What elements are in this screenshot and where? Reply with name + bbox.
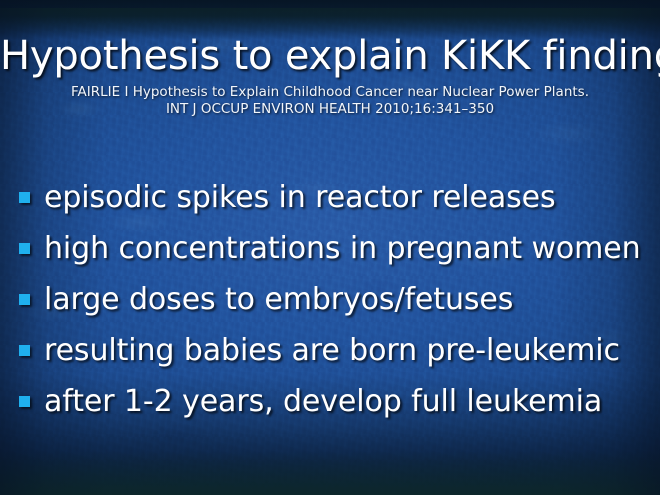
square-bullet-icon bbox=[19, 243, 30, 254]
square-bullet-icon bbox=[19, 396, 30, 407]
list-item: after 1-2 years, develop full leukemia bbox=[0, 376, 660, 427]
bullet-text: large doses to embryos/fetuses bbox=[44, 285, 513, 315]
bullet-text: episodic spikes in reactor releases bbox=[44, 183, 556, 213]
list-item: resulting babies are born pre-leukemic bbox=[0, 325, 660, 376]
presentation-slide: Hypothesis to explain KiKK findings FAIR… bbox=[0, 0, 660, 495]
slide-content: Hypothesis to explain KiKK findings FAIR… bbox=[0, 0, 660, 495]
bullet-text: resulting babies are born pre-leukemic bbox=[44, 336, 620, 366]
square-bullet-icon bbox=[19, 294, 30, 305]
list-item: episodic spikes in reactor releases bbox=[0, 172, 660, 223]
slide-subtitle-line-1: FAIRLIE I Hypothesis to Explain Childhoo… bbox=[0, 84, 660, 101]
bullet-list: episodic spikes in reactor releases high… bbox=[0, 172, 660, 427]
list-item: large doses to embryos/fetuses bbox=[0, 274, 660, 325]
square-bullet-icon bbox=[19, 192, 30, 203]
bullet-text: after 1-2 years, develop full leukemia bbox=[44, 387, 602, 417]
list-item: high concentrations in pregnant women bbox=[0, 223, 660, 274]
slide-subtitle-line-2: INT J OCCUP ENVIRON HEALTH 2010;16:341–3… bbox=[0, 101, 660, 118]
slide-title: Hypothesis to explain KiKK findings bbox=[0, 36, 660, 76]
bullet-text: high concentrations in pregnant women bbox=[44, 234, 641, 264]
square-bullet-icon bbox=[19, 345, 30, 356]
